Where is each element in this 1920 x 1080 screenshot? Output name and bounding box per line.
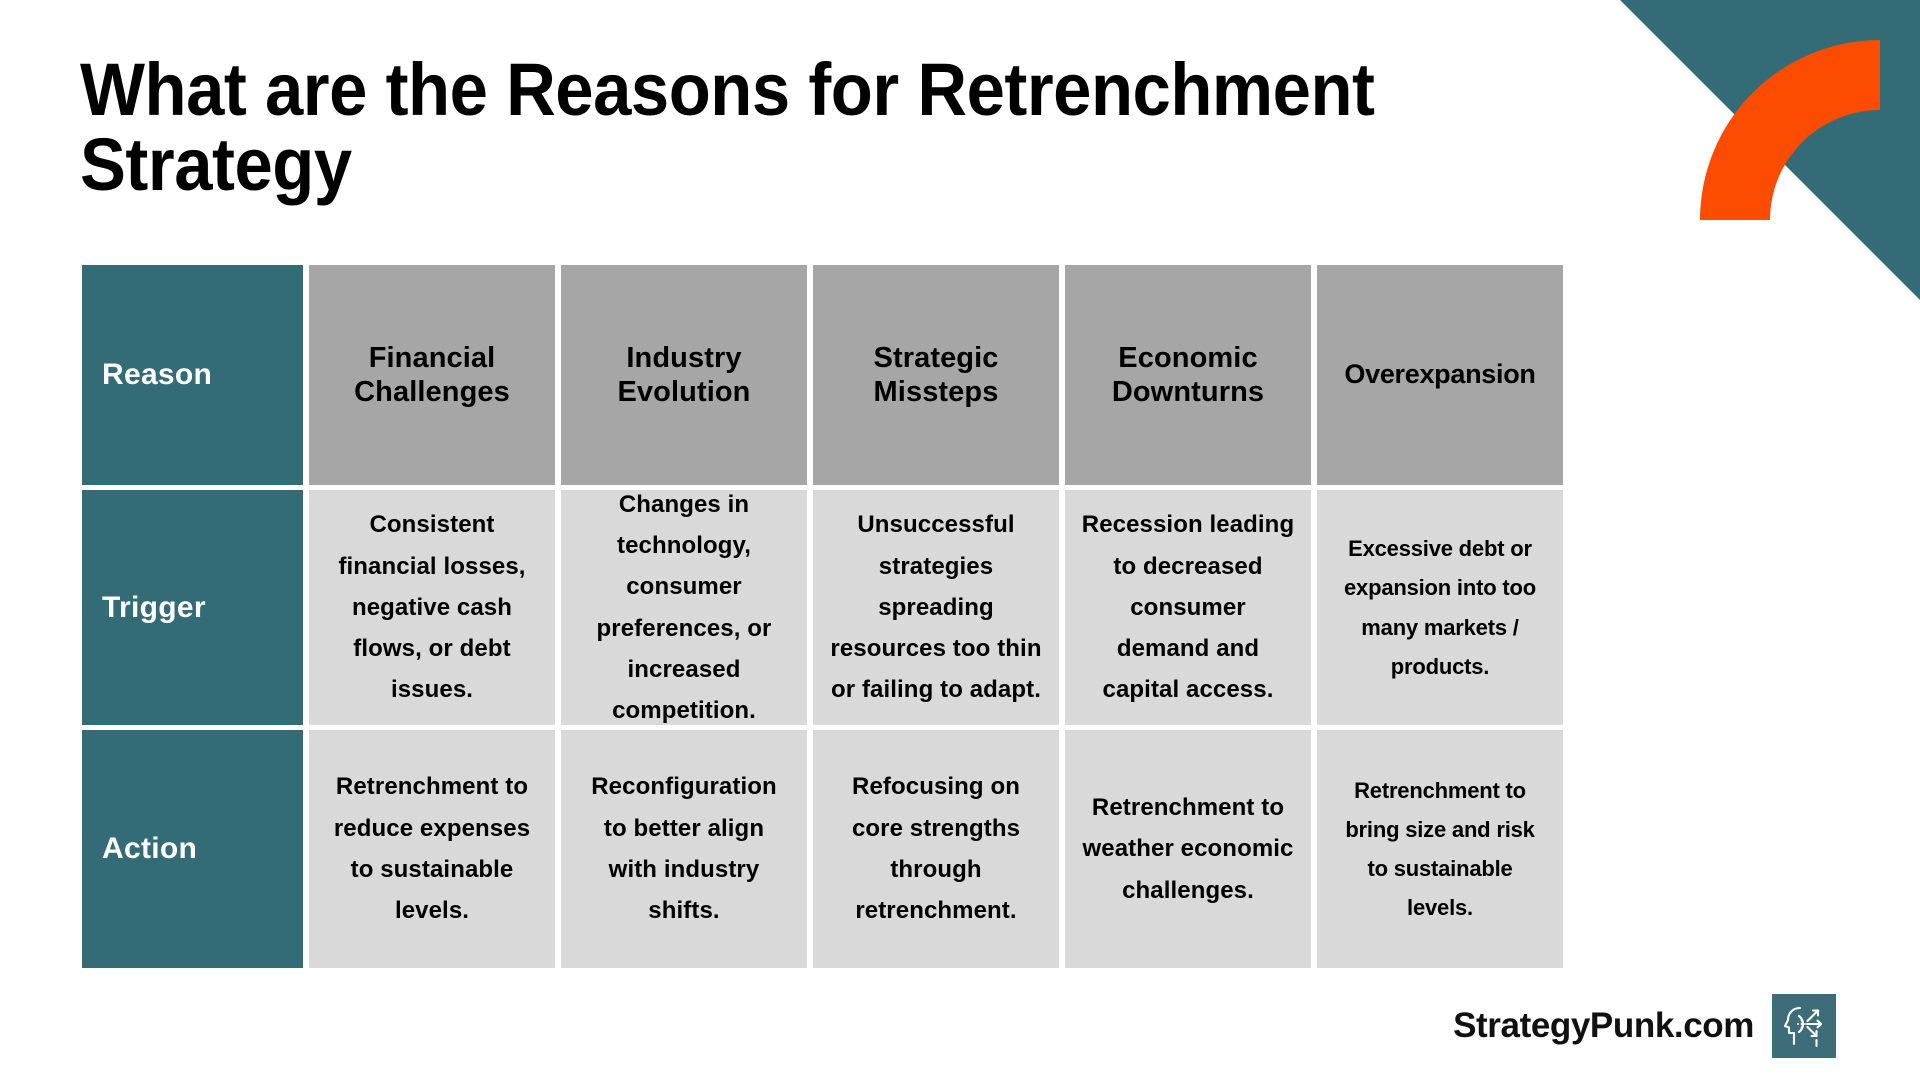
column-header-industry-evolution: Industry Evolution bbox=[561, 265, 807, 485]
action-strategic-missteps: Refocusing on core strengths through ret… bbox=[813, 730, 1059, 968]
trigger-financial-challenges: Consistent financial losses, negative ca… bbox=[309, 490, 555, 725]
action-economic-downturns: Retrenchment to weather economic challen… bbox=[1065, 730, 1311, 968]
page-title: What are the Reasons for Retrenchment St… bbox=[80, 52, 1568, 203]
column-header-strategic-missteps: Strategic Missteps bbox=[813, 265, 1059, 485]
row-label-action: Action bbox=[82, 730, 303, 968]
trigger-industry-evolution: Changes in technology, consumer preferen… bbox=[561, 490, 807, 725]
teal-triangle-shape bbox=[1620, 0, 1920, 300]
column-header-overexpansion: Overexpansion bbox=[1317, 265, 1563, 485]
row-label-trigger: Trigger bbox=[82, 490, 303, 725]
trigger-economic-downturns: Recession leading to decreased consumer … bbox=[1065, 490, 1311, 725]
action-industry-evolution: Reconfiguration to better align with ind… bbox=[561, 730, 807, 968]
action-financial-challenges: Retrenchment to reduce expenses to susta… bbox=[309, 730, 555, 968]
head-profile-arrows-icon bbox=[1772, 994, 1836, 1058]
column-header-financial-challenges: Financial Challenges bbox=[309, 265, 555, 485]
orange-arc-shape bbox=[1700, 40, 1880, 220]
brand-name: StrategyPunk.com bbox=[1453, 1006, 1754, 1046]
slide-canvas: What are the Reasons for Retrenchment St… bbox=[0, 0, 1920, 1080]
footer-branding: StrategyPunk.com bbox=[1453, 994, 1836, 1058]
trigger-strategic-missteps: Unsuccessful strategies spreading resour… bbox=[813, 490, 1059, 725]
reasons-matrix-table: Reason Financial Challenges Industry Evo… bbox=[82, 265, 1820, 970]
trigger-overexpansion: Excessive debt or expansion into too man… bbox=[1317, 490, 1563, 725]
action-overexpansion: Retrenchment to bring size and risk to s… bbox=[1317, 730, 1563, 968]
column-header-economic-downturns: Economic Downturns bbox=[1065, 265, 1311, 485]
row-label-reason: Reason bbox=[82, 265, 303, 485]
